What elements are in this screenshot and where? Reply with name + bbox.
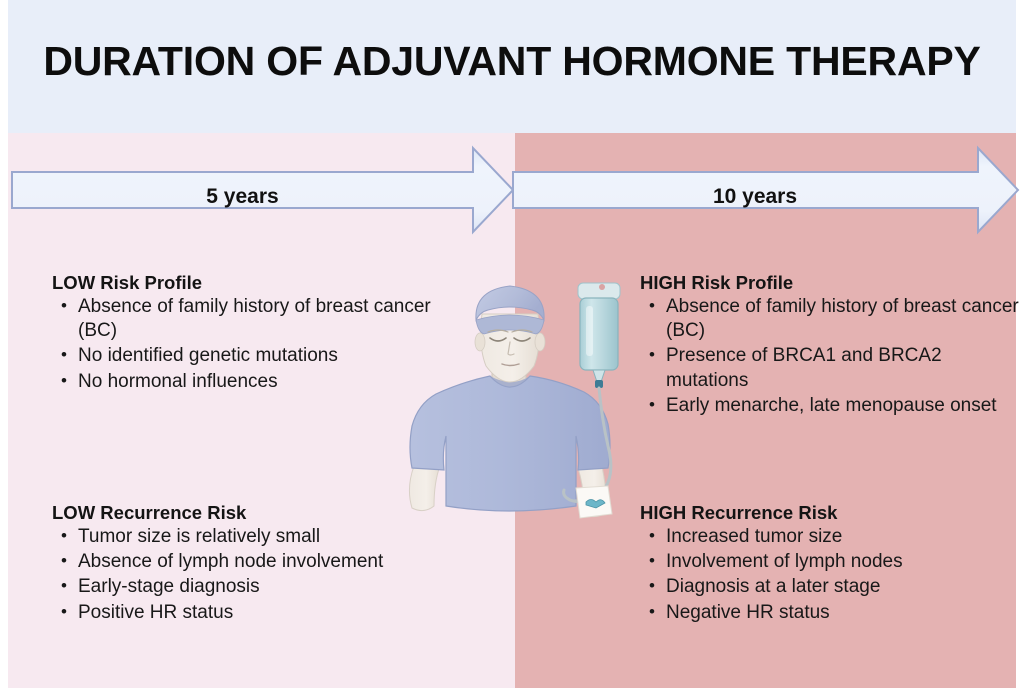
iv-bag-cap	[578, 283, 620, 299]
list-item: Involvement of lymph nodes	[666, 550, 1020, 574]
bottom-margin	[0, 688, 1024, 694]
list-high-risk-profile: Absence of family history of breast canc…	[640, 295, 1020, 419]
iv-bag-highlight	[586, 306, 593, 356]
list-item: Early menarche, late menopause onset	[666, 394, 1020, 418]
list-item: Increased tumor size	[666, 525, 1020, 549]
list-item: Negative HR status	[666, 601, 1020, 625]
timeline-label-5-years: 5 years	[12, 185, 473, 209]
left-ear	[475, 333, 485, 351]
heading-high-risk-profile: HIGH Risk Profile	[640, 272, 1020, 294]
list-item: Positive HR status	[78, 601, 452, 625]
list-low-recurrence-risk: Tumor size is relatively small Absence o…	[52, 525, 452, 625]
list-item: Absence of family history of breast canc…	[666, 295, 1020, 344]
timeline-label-10-years: 10 years	[560, 185, 950, 209]
page-title: DURATION OF ADJUVANT HORMONE THERAPY	[0, 38, 1024, 85]
list-item: Tumor size is relatively small	[78, 525, 452, 549]
block-high-recurrence-risk: HIGH Recurrence Risk Increased tumor siz…	[640, 502, 1020, 626]
iv-bag	[580, 298, 618, 370]
list-item: Presence of BRCA1 and BRCA2 mutations	[666, 344, 1020, 393]
infographic-root: DURATION OF ADJUVANT HORMONE THERAPY 5 y…	[0, 0, 1024, 694]
list-item: Absence of lymph node involvement	[78, 550, 452, 574]
block-high-risk-profile: HIGH Risk Profile Absence of family hist…	[640, 272, 1020, 419]
list-item: Diagnosis at a later stage	[666, 575, 1020, 599]
left-arm	[409, 466, 440, 511]
heading-high-recurrence-risk: HIGH Recurrence Risk	[640, 502, 1020, 524]
list-item: Early-stage diagnosis	[78, 575, 452, 599]
block-low-recurrence-risk: LOW Recurrence Risk Tumor size is relati…	[52, 502, 452, 626]
patient-illustration	[390, 270, 660, 520]
list-high-recurrence-risk: Increased tumor size Involvement of lymp…	[640, 525, 1020, 625]
right-ear	[535, 333, 545, 351]
iv-bag-port	[599, 284, 605, 290]
